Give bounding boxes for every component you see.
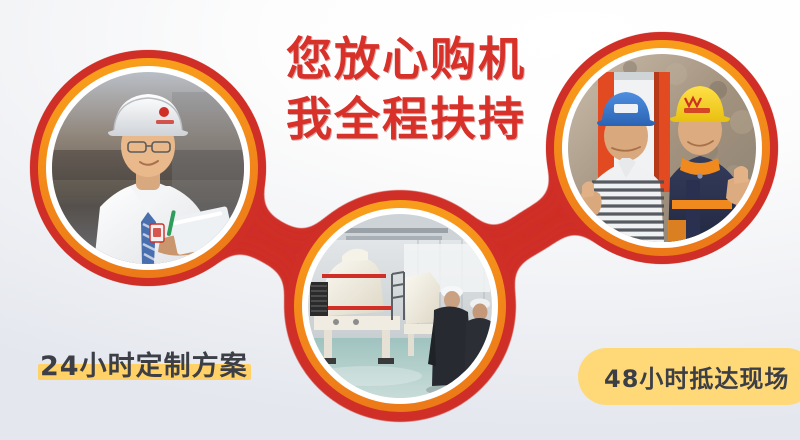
photo-workers xyxy=(568,54,756,242)
caption-left-text: 24小时定制方案 xyxy=(40,344,248,383)
headline-line-1: 您放心购机 xyxy=(286,30,556,90)
headline: 您放心购机 我全程扶持 xyxy=(286,30,556,150)
photo-engineer xyxy=(52,72,244,264)
pill-right-text: 48小时抵达现场 xyxy=(604,359,789,394)
promo-banner: 您放心购机 我全程扶持 24小时定制方案 48小时抵达现场 xyxy=(0,0,800,440)
pill-right: 48小时抵达现场 xyxy=(578,348,800,405)
photo-factory xyxy=(308,214,492,398)
headline-line-2: 我全程扶持 xyxy=(286,90,556,150)
caption-left: 24小时定制方案 xyxy=(40,344,248,383)
